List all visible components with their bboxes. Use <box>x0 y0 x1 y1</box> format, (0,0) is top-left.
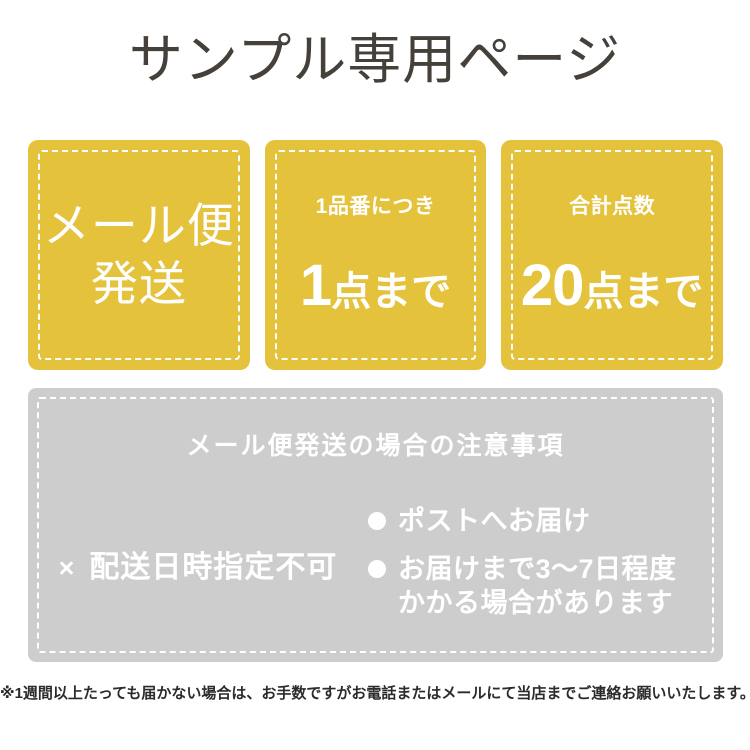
bullet-text: お届けまで3〜7日程度 かかる場合があります <box>398 552 723 620</box>
total-limit-unit: 点まで <box>583 272 703 312</box>
feature-box-shipping-method: メール便 発送 <box>28 140 250 370</box>
per-item-limit-number: 1 <box>300 257 331 315</box>
feature-box-per-item-limit: 1品番につき 1 点まで <box>265 140 487 370</box>
notice-no-delivery-date: × 配送日時指定不可 <box>28 498 368 638</box>
notice-no-delivery-date-text: 配送日時指定不可 <box>89 551 337 585</box>
bullet-dot-icon <box>368 512 386 530</box>
notice-bullet-list: ポストへお届け お届けまで3〜7日程度 かかる場合があります <box>368 498 723 620</box>
feature-box-total-limit: 合計点数 20 点まで <box>501 140 723 370</box>
shipping-method-line-1: メール便 <box>43 199 235 252</box>
feature-box-row: メール便 発送 1品番につき 1 点まで 合計点数 20 点まで <box>28 140 723 370</box>
total-limit-number: 20 <box>521 257 584 315</box>
per-item-limit-unit: 点まで <box>331 272 451 312</box>
shipping-method-text: メール便 発送 <box>43 197 235 313</box>
notice-body: × 配送日時指定不可 ポストへお届け お届けまで3〜7日程度 かかる場合がありま… <box>28 498 723 648</box>
page-title: サンプル専用ページ <box>0 28 750 92</box>
per-item-limit-value: 1 点まで <box>300 257 451 315</box>
sample-page-banner: サンプル専用ページ メール便 発送 1品番につき 1 点まで 合計点数 20 点… <box>0 0 750 750</box>
list-item: お届けまで3〜7日程度 かかる場合があります <box>368 552 723 620</box>
footer-note: ※1週間以上たっても届かない場合は、お手数ですがお電話またはメールにて当店までご… <box>0 683 750 705</box>
cross-mark-icon: × <box>59 551 76 585</box>
shipping-method-line-2: 発送 <box>91 257 187 310</box>
list-item: ポストへお届け <box>368 504 723 538</box>
notice-heading: メール便発送の場合の注意事項 <box>28 431 723 461</box>
bullet-line: お届けまで3〜7日程度 <box>398 552 723 586</box>
notice-panel: メール便発送の場合の注意事項 × 配送日時指定不可 ポストへお届け お届けまで3… <box>28 388 723 662</box>
bullet-line: かかる場合があります <box>398 586 723 620</box>
bullet-dot-icon <box>368 560 386 578</box>
per-item-limit-label: 1品番につき <box>316 195 436 219</box>
bullet-text: ポストへお届け <box>398 504 723 538</box>
total-limit-label: 合計点数 <box>569 195 655 219</box>
total-limit-value: 20 点まで <box>521 257 704 315</box>
bullet-line: ポストへお届け <box>398 504 723 538</box>
